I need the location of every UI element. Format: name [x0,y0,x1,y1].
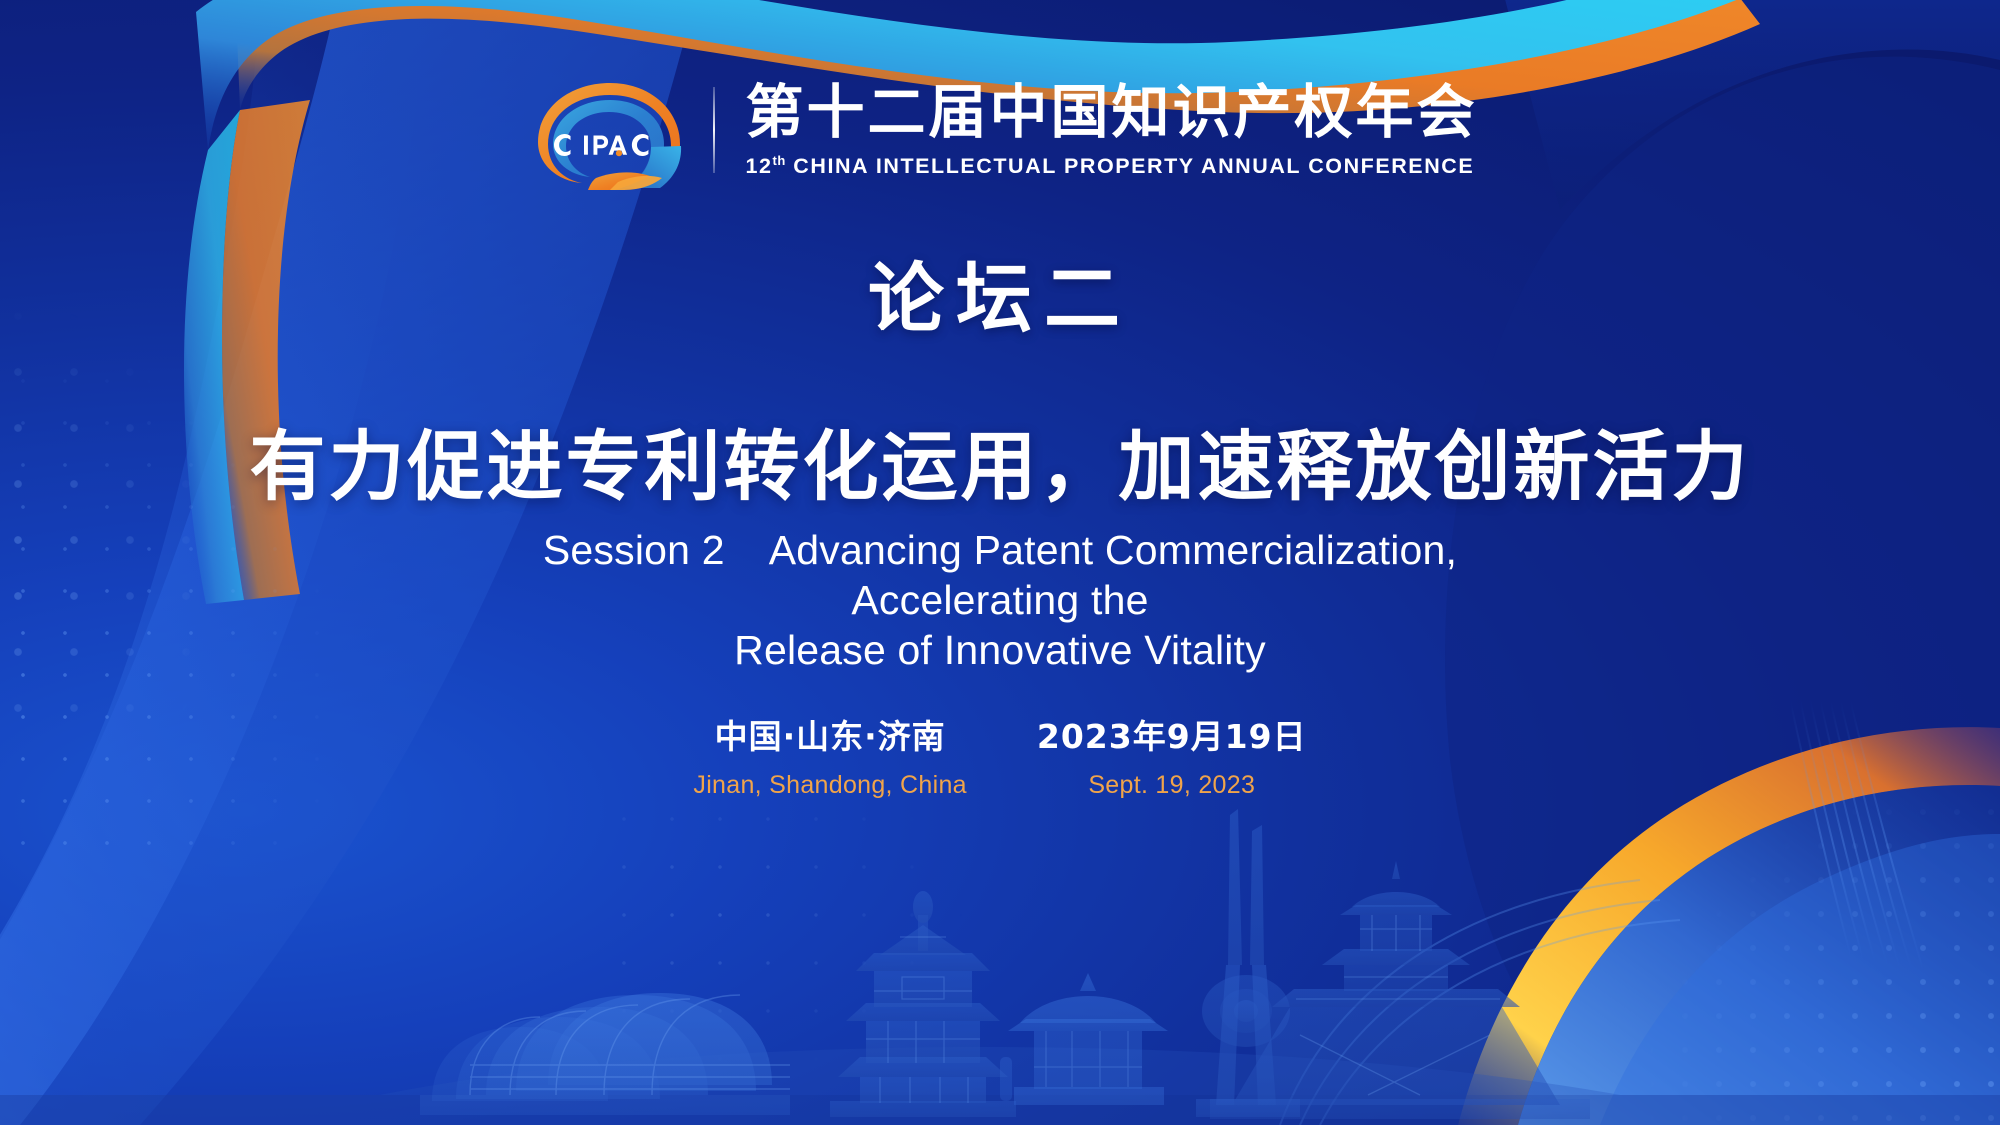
conference-title-en-rest: CHINA INTELLECTUAL PROPERTY ANNUAL CONFE… [786,154,1474,178]
session-label-en: Session 2 [543,527,725,573]
masthead: 第十二届中国知识产权年会 12th CHINA INTELLECTUAL PRO… [0,70,2000,190]
session-number-cn: 论坛二 [0,237,2000,347]
conference-backdrop: 第十二届中国知识产权年会 12th CHINA INTELLECTUAL PRO… [0,0,2000,1125]
location-en: Jinan, Shandong, China [693,771,966,800]
event-date: 2023年9月19日 Sept. 19, 2023 [1037,710,1307,800]
conference-title-cn: 第十二届中国知识产权年会 [745,81,1477,144]
logo-wordmark [554,134,648,156]
masthead-divider [713,87,715,173]
session-headline-en-text1: Advancing Patent Commercialization, Acce… [769,527,1457,623]
event-location: 中国·山东·济南 Jinan, Shandong, China [693,710,966,800]
cipac-logo-svg [522,70,697,190]
date-en: Sept. 19, 2023 [1088,771,1255,800]
cipac-swirl-logo-icon [522,70,697,190]
session-headline-en: Session 2Advancing Patent Commercializat… [445,525,1555,675]
content-layer: 第十二届中国知识产权年会 12th CHINA INTELLECTUAL PRO… [0,0,2000,1125]
session-headline-cn: 有力促进专利转化运用，加速释放创新活力 [0,405,2000,515]
masthead-text: 第十二届中国知识产权年会 12th CHINA INTELLECTUAL PRO… [745,81,1477,179]
location-cn: 中国·山东·济南 [715,710,946,758]
session-headline-en-line1: Session 2Advancing Patent Commercializat… [445,525,1555,625]
conference-title-en-prefix: 12 [745,154,772,178]
conference-title-en-sup: th [773,153,786,168]
date-cn: 2023年9月19日 [1037,710,1307,758]
event-meta: 中国·山东·济南 Jinan, Shandong, China 2023年9月1… [0,710,2000,800]
session-headline-en-line2: Release of Innovative Vitality [445,625,1555,675]
conference-title-en: 12th CHINA INTELLECTUAL PROPERTY ANNUAL … [745,153,1477,179]
